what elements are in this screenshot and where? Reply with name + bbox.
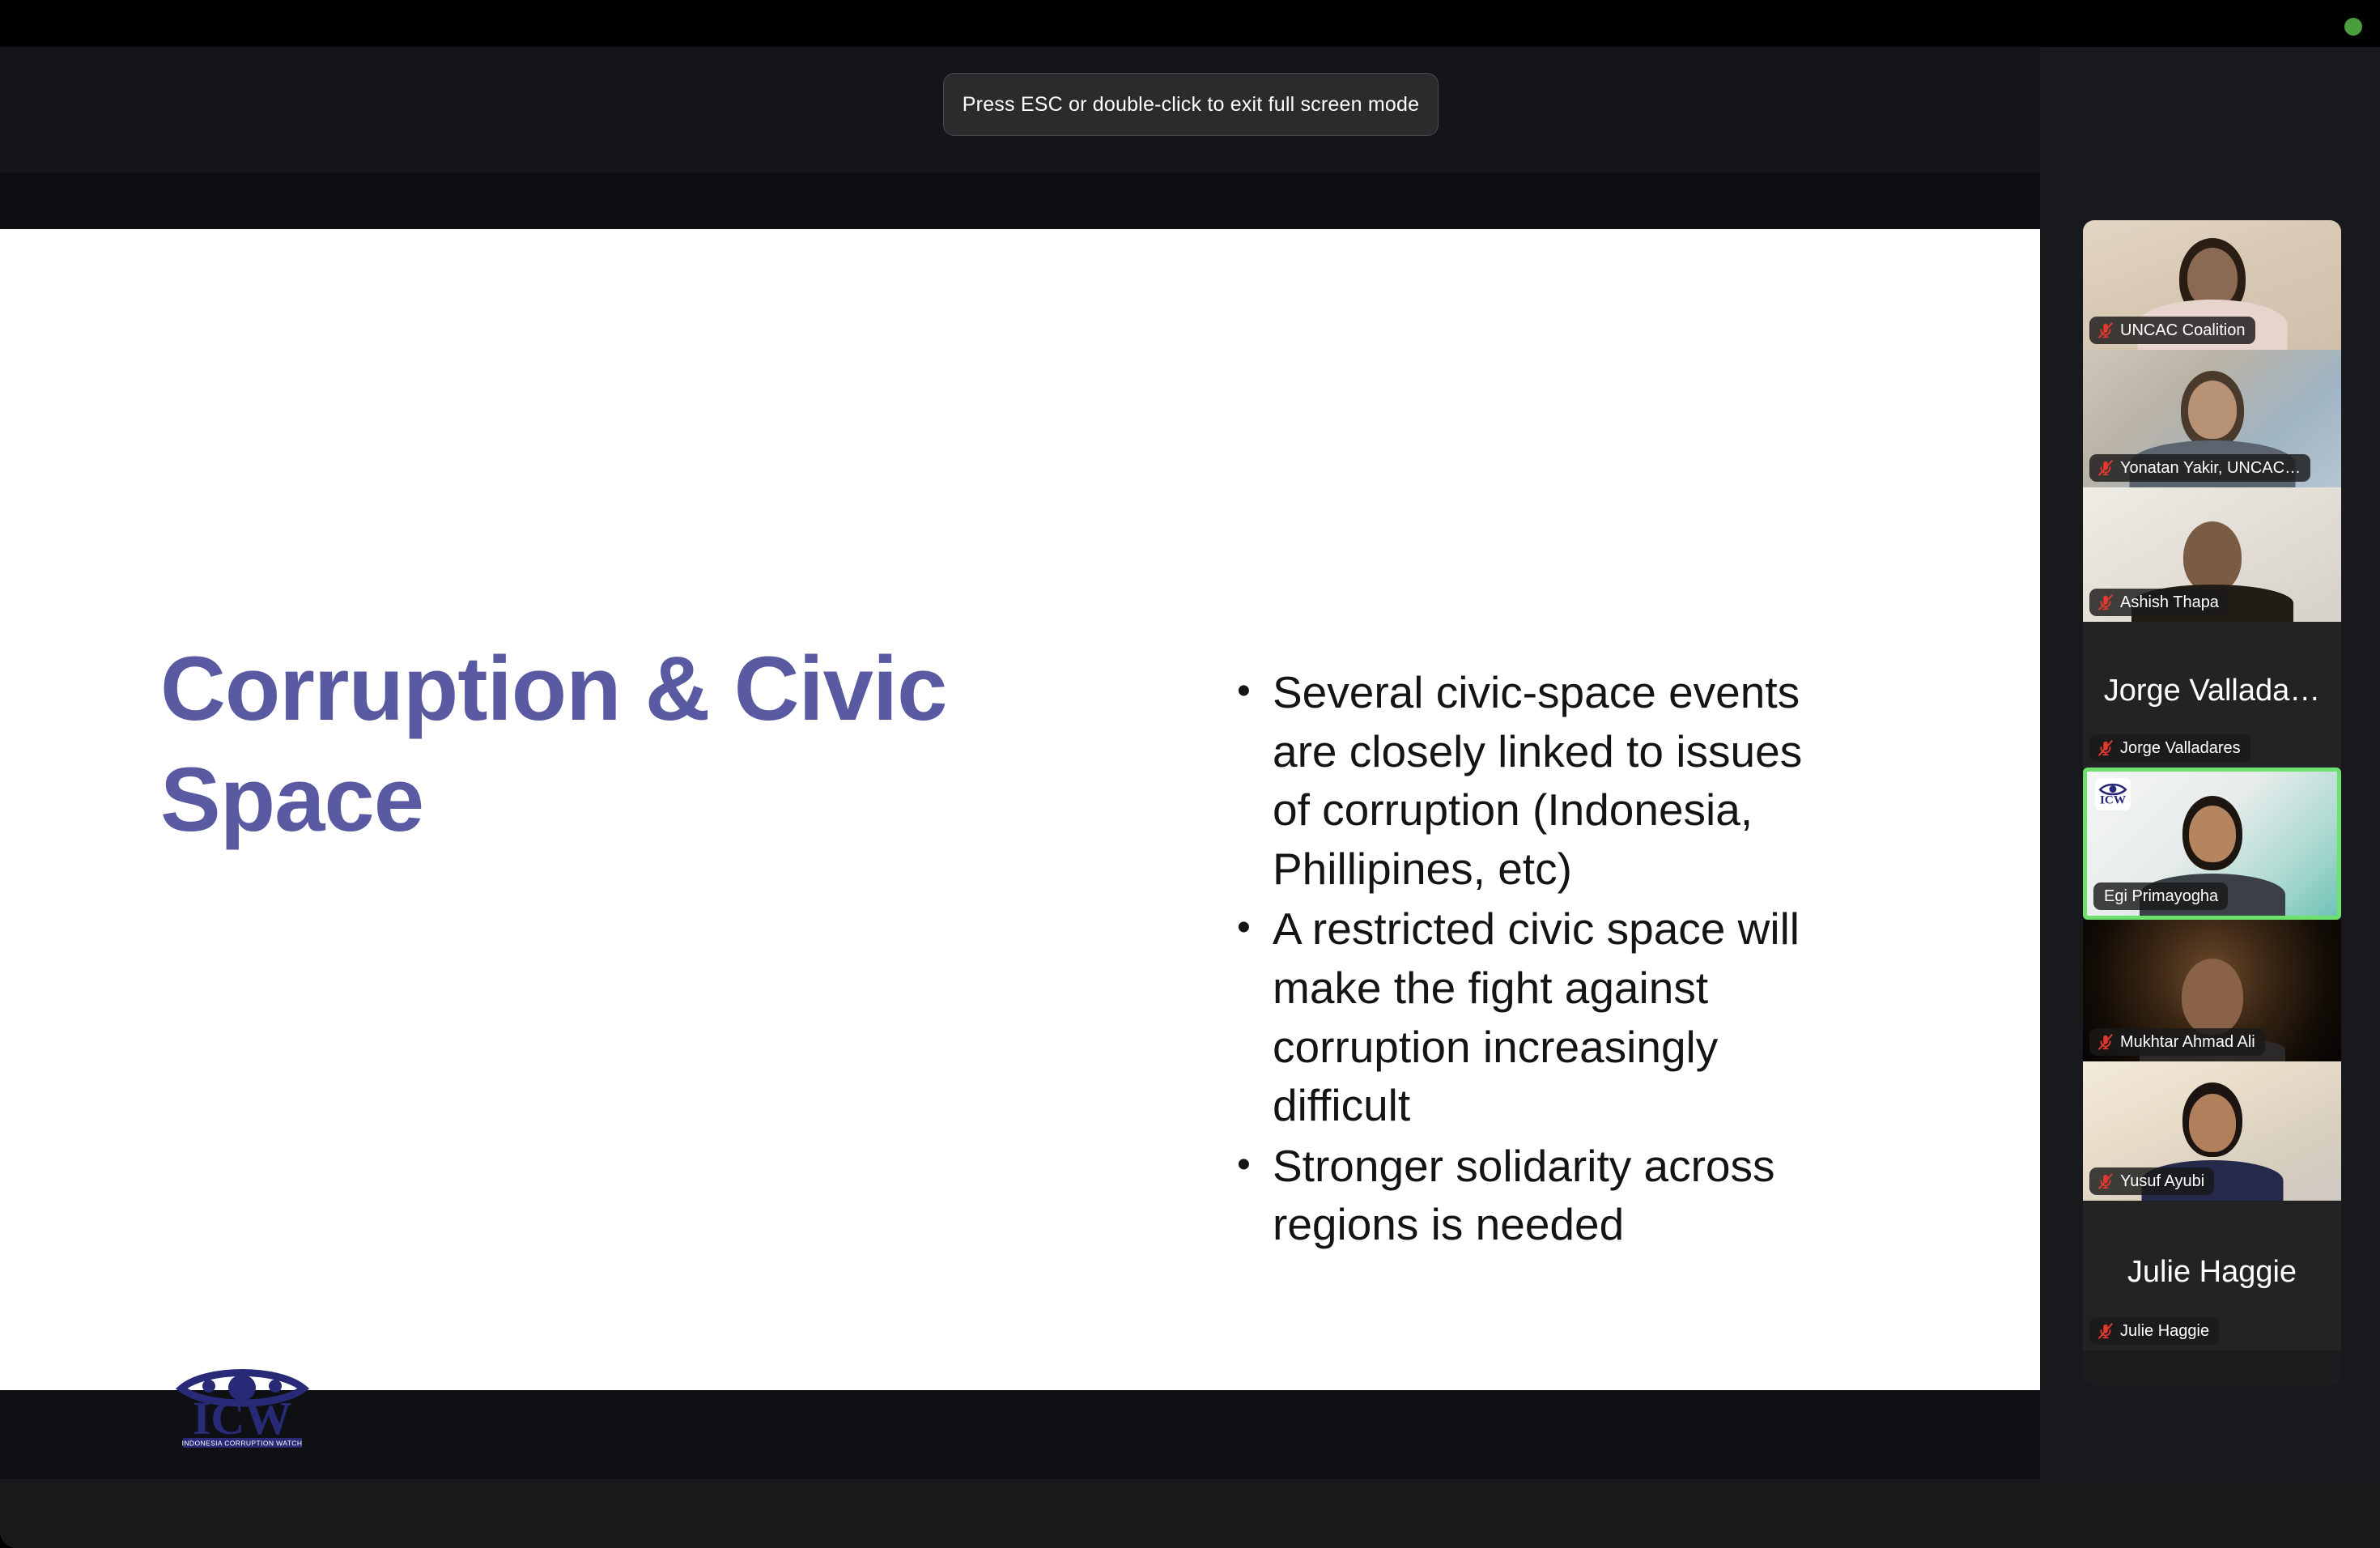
mute-icon <box>2097 1172 2114 1190</box>
participant-name-badge: Yonatan Yakir, UNCAC… <box>2089 454 2310 482</box>
participant-tile[interactable]: Jorge Vallada… Jorge Valladares <box>2083 622 2341 768</box>
icw-logo: ICW INDONESIA CORRUPTION WATCH <box>172 1361 313 1448</box>
participant-name: Julie Haggie <box>2120 1322 2209 1341</box>
participant-name: Jorge Valladares <box>2120 739 2241 758</box>
slide-bullet: Several civic-space events are closely l… <box>1230 663 1830 898</box>
participant-tile[interactable]: Julie Haggie Julie Haggie <box>2083 1201 2341 1350</box>
participant-tile[interactable]: UNCAC Coalition <box>2083 220 2341 350</box>
participant-tile[interactable]: Ashish Thapa <box>2083 487 2341 622</box>
participant-name: Egi Primayogha <box>2104 887 2218 906</box>
participant-placeholder-name: Jorge Vallada… <box>2083 674 2341 708</box>
mute-icon <box>2097 321 2114 339</box>
participant-name-badge: Egi Primayogha <box>2093 882 2228 910</box>
icw-watermark-icon: ICW <box>2095 778 2131 810</box>
participant-name: Yonatan Yakir, UNCAC… <box>2120 459 2301 478</box>
participant-tile-active-speaker[interactable]: ICW Egi Primayogha <box>2083 768 2341 920</box>
participant-name-badge: Jorge Valladares <box>2089 734 2250 762</box>
svg-text:ICW: ICW <box>193 1392 291 1444</box>
shared-slide: Corruption & Civic Space Several civic-s… <box>0 229 2040 1390</box>
slide-title: Corruption & Civic Space <box>160 634 1018 855</box>
slide-bullet: A restricted civic space will make the f… <box>1230 899 1830 1134</box>
participant-name: Ashish Thapa <box>2120 593 2219 612</box>
top-black-bar <box>0 0 2380 47</box>
mute-icon <box>2097 1322 2114 1340</box>
participant-name: Mukhtar Ahmad Ali <box>2120 1033 2255 1052</box>
participant-name: Yusuf Ayubi <box>2120 1172 2204 1191</box>
participant-name-badge: Julie Haggie <box>2089 1317 2219 1345</box>
participant-tile[interactable]: Mukhtar Ahmad Ali <box>2083 920 2341 1061</box>
svg-text:ICW: ICW <box>2100 793 2126 806</box>
chrome-mid-band <box>0 172 2040 229</box>
participant-name-badge: Mukhtar Ahmad Ali <box>2089 1028 2265 1056</box>
mute-icon <box>2097 739 2114 757</box>
fullscreen-hint-tooltip: Press ESC or double-click to exit full s… <box>943 73 1439 136</box>
chrome-bottom-band <box>0 1479 2380 1548</box>
slide-bullet-list: Several civic-space events are closely l… <box>1230 663 1830 1256</box>
participant-name-badge: Yusuf Ayubi <box>2089 1167 2214 1195</box>
participant-tile[interactable]: Yusuf Ayubi <box>2083 1061 2341 1201</box>
mute-icon <box>2097 593 2114 611</box>
participant-name-badge: Ashish Thapa <box>2089 589 2229 616</box>
recording-dot-icon <box>2344 18 2362 36</box>
participant-name: UNCAC Coalition <box>2120 321 2246 340</box>
participant-tile[interactable]: Yonatan Yakir, UNCAC… <box>2083 350 2341 487</box>
participant-placeholder-name: Julie Haggie <box>2083 1255 2341 1290</box>
zoom-fullscreen-share: Press ESC or double-click to exit full s… <box>0 0 2380 1548</box>
slide-bullet: Stronger solidarity across regions is ne… <box>1230 1137 1830 1254</box>
mute-icon <box>2097 1033 2114 1051</box>
mute-icon <box>2097 459 2114 477</box>
participant-name-badge: UNCAC Coalition <box>2089 317 2255 344</box>
svg-text:INDONESIA CORRUPTION WATCH: INDONESIA CORRUPTION WATCH <box>182 1440 303 1448</box>
participant-filmstrip[interactable]: UNCAC Coalition Yonatan Yakir, UNCAC… <box>2083 220 2341 1386</box>
